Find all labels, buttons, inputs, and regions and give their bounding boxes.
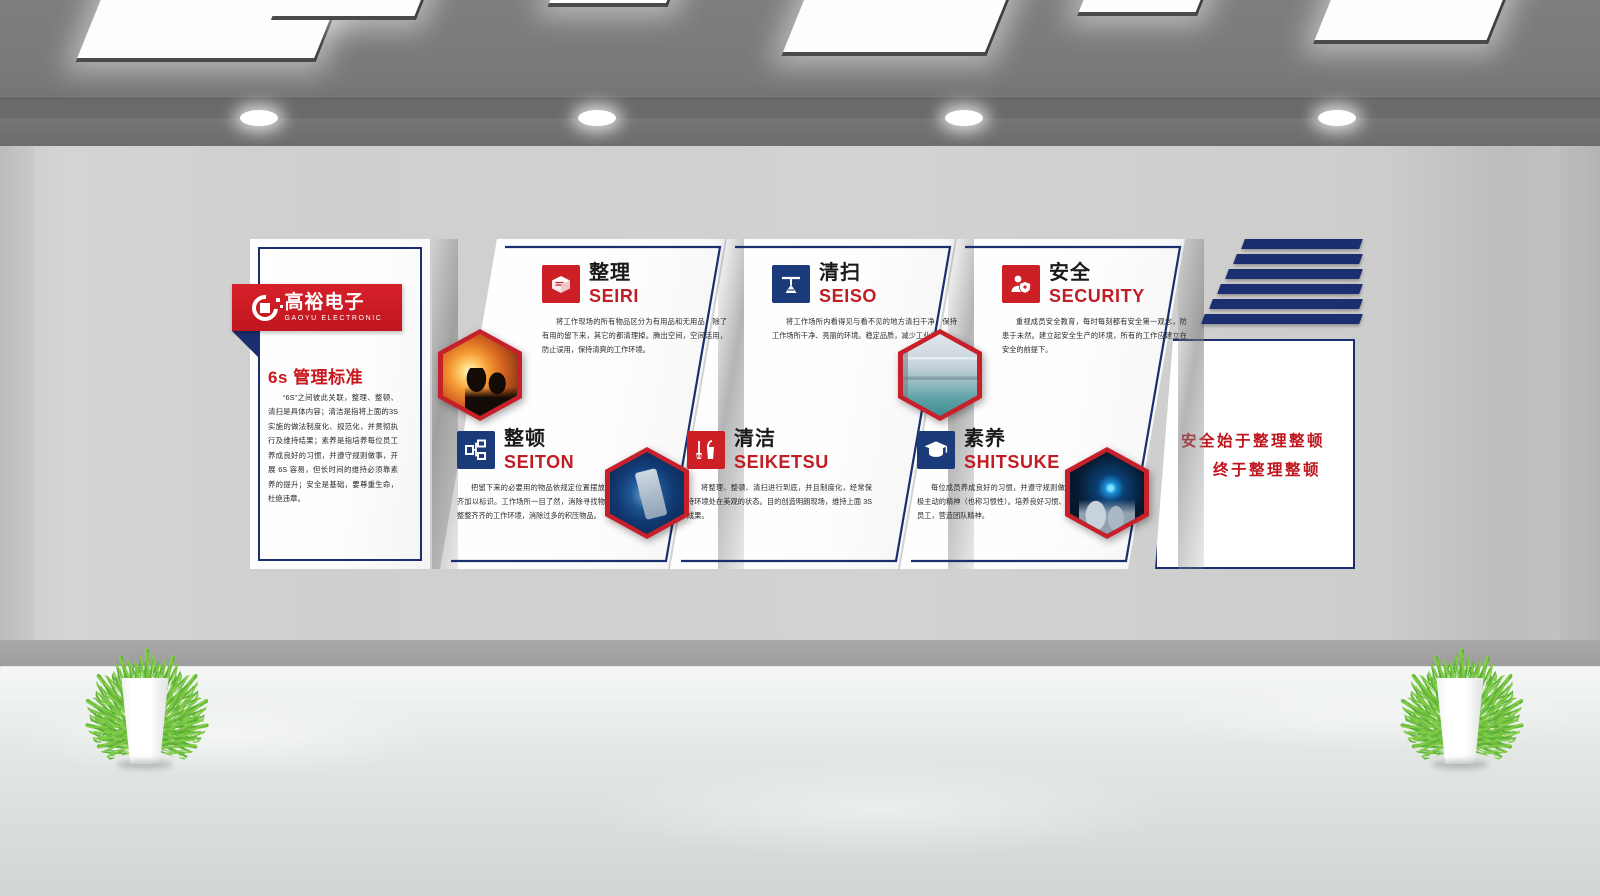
section-body: 将工作现场的所有物品区分为有用品和无用品，除了有用的留下来，其它的都清理掉。腾出… xyxy=(542,315,727,357)
mop-bucket-icon xyxy=(687,431,725,469)
section-title-en: SEIKETSU xyxy=(734,453,829,471)
stripe xyxy=(1201,314,1363,324)
left-potted-palm xyxy=(60,560,230,750)
section-security: 安全 SECURITY 重视成员安全教育，每时每刻都有安全第一观念，防患于未然。… xyxy=(1002,263,1187,357)
broom-icon xyxy=(772,265,810,303)
section-title-en: SECURITY xyxy=(1049,287,1145,305)
section-title-en: SEITON xyxy=(504,453,574,471)
smartphone-tech-photo xyxy=(605,447,689,539)
stripe xyxy=(1217,284,1363,294)
section-title-en: SEISO xyxy=(819,287,877,305)
wall-right-return xyxy=(1560,146,1600,666)
factory-line-photo xyxy=(898,329,982,421)
right-potted-palm xyxy=(1375,560,1545,750)
section-title-cn: 安全 xyxy=(1049,263,1145,283)
6s-wall-board: 高裕电子 GAOYU ELECTRONIC 6s 管理标准 “6S”之间彼此关联… xyxy=(250,239,1355,569)
section-title-cn: 整理 xyxy=(589,263,639,283)
graduation-cap-icon xyxy=(917,431,955,469)
downlight xyxy=(240,110,278,126)
ceiling-soffit xyxy=(0,118,1600,146)
wall-baseboard xyxy=(0,640,1600,666)
company-logo-banner: 高裕电子 GAOYU ELECTRONIC xyxy=(232,284,402,331)
company-name-en: GAOYU ELECTRONIC xyxy=(285,315,383,322)
plant-shadow xyxy=(117,760,173,769)
decorative-stripes xyxy=(1191,239,1361,335)
box-sort-icon xyxy=(542,265,580,303)
section-body: 重视成员安全教育，每时每刻都有安全第一观念，防患于未然。建立起安全生产的环境，所… xyxy=(1002,315,1187,357)
stripe xyxy=(1225,269,1363,279)
section-title-cn: 清扫 xyxy=(819,263,877,283)
stripe xyxy=(1241,239,1363,249)
section-title-en: SEIRI xyxy=(589,287,639,305)
sunset-teamwork-photo xyxy=(438,329,522,421)
intro-body: “6S”之间彼此关联，整理、整顿、清扫是具体内容；清洁是指将上面的3S实施的做法… xyxy=(268,391,398,507)
plant-shadow xyxy=(1432,760,1488,769)
ai-robot-photo xyxy=(1065,447,1149,539)
floor-marble-sheen xyxy=(0,666,1600,896)
section-title-cn: 素养 xyxy=(964,429,1060,449)
ceiling-light-panel xyxy=(781,0,1023,56)
person-shield-icon xyxy=(1002,265,1040,303)
ceiling-light-panel xyxy=(271,0,444,20)
downlight xyxy=(1318,110,1356,126)
section-title-en: SHITSUKE xyxy=(964,453,1060,471)
office-wall-scene: 高裕电子 GAOYU ELECTRONIC 6s 管理标准 “6S”之间彼此关联… xyxy=(0,0,1600,896)
slogan-line-2: 终于整理整顿 xyxy=(1213,458,1321,480)
section-title-cn: 整顿 xyxy=(504,429,574,449)
ceiling-light-panel xyxy=(1077,0,1223,16)
section-title-cn: 清洁 xyxy=(734,429,829,449)
stripe xyxy=(1233,254,1363,264)
section-body: 将整理、整顿、清扫进行到底，并且制度化，经常保持环境处在美观的状态。目的创造明朗… xyxy=(687,481,872,523)
downlight xyxy=(945,110,983,126)
ceiling-light-panel xyxy=(547,0,692,7)
section-seiri: 整理 SEIRI 将工作现场的所有物品区分为有用品和无用品，除了有用的留下来，其… xyxy=(542,263,727,357)
ring-chip-logo-icon xyxy=(252,295,278,321)
intro-title: 6s 管理标准 xyxy=(268,363,408,388)
floor xyxy=(0,666,1600,896)
section-seiketsu: 清洁 SEIKETSU 将整理、整顿、清扫进行到底，并且制度化，经常保持环境处在… xyxy=(687,429,872,523)
ceiling-light-panel xyxy=(1313,0,1522,44)
stripe xyxy=(1209,299,1363,309)
downlight xyxy=(578,110,616,126)
ceiling xyxy=(0,0,1600,118)
wall-left-return xyxy=(0,146,34,666)
company-name-cn: 高裕电子 xyxy=(285,293,383,312)
layout-arrange-icon xyxy=(457,431,495,469)
